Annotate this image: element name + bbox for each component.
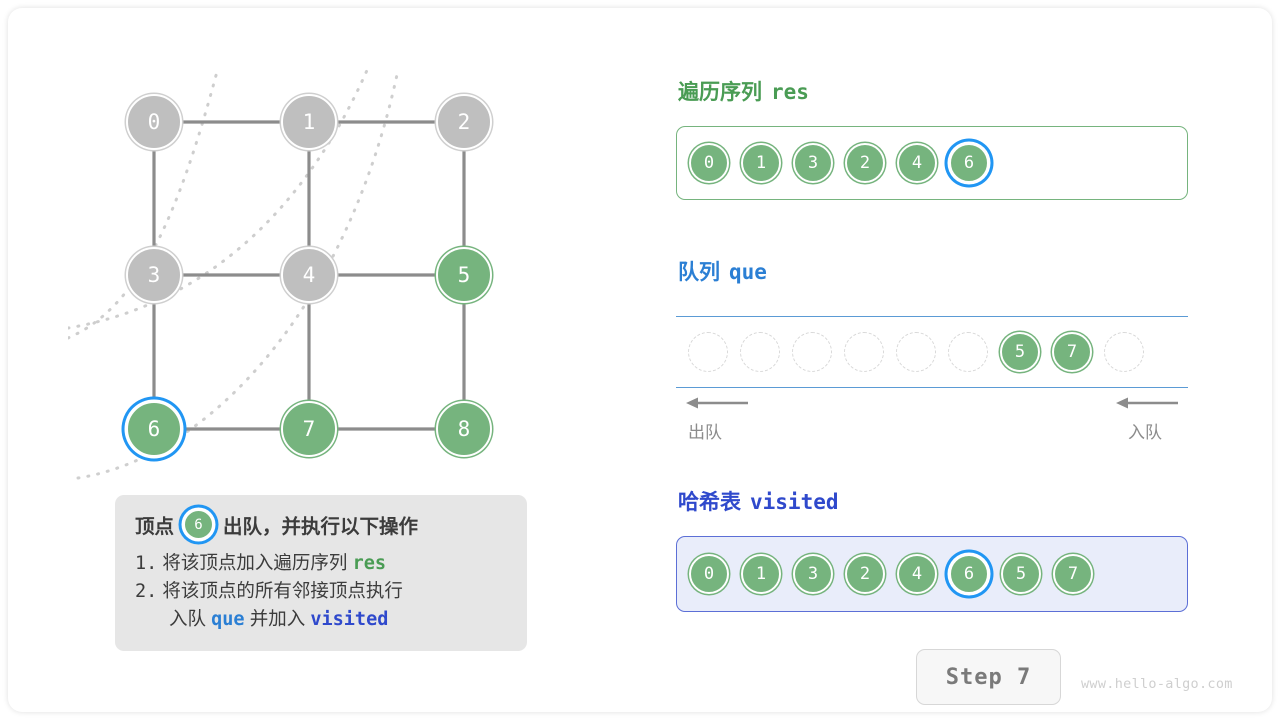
res-item-1: 1 xyxy=(741,143,781,183)
visited-title-code: visited xyxy=(750,490,839,514)
caption-step-2: 2. 将该顶点的所有邻接顶点执行 xyxy=(135,578,507,606)
que-slot-2 xyxy=(792,332,832,372)
que-slot-3 xyxy=(844,332,884,372)
caption-head-prefix: 顶点 xyxy=(135,510,174,539)
graph-node-3[interactable]: 3 xyxy=(126,247,182,303)
res-title-code: res xyxy=(771,80,809,104)
graph-node-4[interactable]: 4 xyxy=(281,247,337,303)
que-title-code: que xyxy=(729,260,767,284)
caption-step-2-before: 入队 xyxy=(169,608,206,629)
visited-item-0: 0 xyxy=(689,554,729,594)
background-dotted-curves xyxy=(68,68,398,478)
watermark: www.hello-algo.com xyxy=(1081,676,1233,692)
visited-item-7: 7 xyxy=(1053,554,1093,594)
caption-box: 顶点 6 出队，并执行以下操作 1. 将该顶点加入遍历序列 res 2. 将该顶… xyxy=(115,495,527,651)
state-panel: 遍历序列res 013246 队列que 57 出队 入队 哈希表visited xyxy=(668,8,1272,712)
visited-title-label: 哈希表 xyxy=(678,491,741,514)
que-section-title: 队列que xyxy=(678,256,767,286)
caption-step-1-code: res xyxy=(353,553,386,574)
caption-step-2-continued: 入队 que 并加入 visited xyxy=(135,606,507,634)
que-slots: 57 xyxy=(688,332,1156,372)
visited-item-3: 2 xyxy=(845,554,885,594)
res-title-label: 遍历序列 xyxy=(678,81,762,104)
graph-node-6[interactable]: 6 xyxy=(126,401,182,457)
visited-item-6: 5 xyxy=(1001,554,1041,594)
caption-step-2-code-visited: visited xyxy=(310,609,388,630)
enqueue-label: 入队 xyxy=(1128,418,1162,443)
res-list: 013246 xyxy=(676,126,1188,200)
caption-step-1-num: 1. xyxy=(135,553,157,574)
visited-item-1: 1 xyxy=(741,554,781,594)
res-item-3: 2 xyxy=(845,143,885,183)
visited-item-2: 3 xyxy=(793,554,833,594)
que-slot-7: 7 xyxy=(1052,332,1092,372)
caption-node-6: 6 xyxy=(183,509,214,540)
res-section-title: 遍历序列res xyxy=(678,76,809,106)
dequeue-label: 出队 xyxy=(688,418,722,443)
que-rail-top xyxy=(676,316,1188,317)
que-track: 57 xyxy=(676,316,1188,388)
visited-item-5: 6 xyxy=(949,554,989,594)
caption-step-1-text: 将该顶点加入遍历序列 xyxy=(162,552,347,573)
que-direction-row: 出队 入队 xyxy=(676,396,1188,444)
diagram-frame: 012345678 顶点 6 出队，并执行以下操作 1. 将该顶点加入遍历序列 … xyxy=(8,8,1272,712)
graph-node-7[interactable]: 7 xyxy=(281,401,337,457)
caption-step-2-text: 将该顶点的所有邻接顶点执行 xyxy=(162,580,403,601)
que-slot-0 xyxy=(688,332,728,372)
caption-head-suffix: 出队，并执行以下操作 xyxy=(223,510,418,539)
graph-node-2[interactable]: 2 xyxy=(436,94,492,150)
que-slot-5 xyxy=(948,332,988,372)
graph-node-5[interactable]: 5 xyxy=(436,247,492,303)
que-rail-bottom xyxy=(676,387,1188,388)
caption-step-2-num: 2. xyxy=(135,581,157,602)
que-slot-1 xyxy=(740,332,780,372)
caption-step-2-mid: 并加入 xyxy=(250,608,306,629)
que-slot-4 xyxy=(896,332,936,372)
res-item-0: 0 xyxy=(689,143,729,183)
que-slot-6: 5 xyxy=(1000,332,1040,372)
graph-node-1[interactable]: 1 xyxy=(281,94,337,150)
step-badge: Step 7 xyxy=(916,649,1061,705)
res-item-5: 6 xyxy=(949,143,989,183)
visited-list: 01324657 xyxy=(676,536,1188,612)
graph-node-8[interactable]: 8 xyxy=(436,401,492,457)
caption-step-2-code-que: que xyxy=(211,609,244,630)
visited-item-4: 4 xyxy=(897,554,937,594)
res-item-2: 3 xyxy=(793,143,833,183)
dequeue-arrow-icon xyxy=(686,396,748,410)
que-slot-8 xyxy=(1104,332,1144,372)
graph-node-0[interactable]: 0 xyxy=(126,94,182,150)
caption-heading: 顶点 6 出队，并执行以下操作 xyxy=(135,509,507,540)
res-item-4: 4 xyxy=(897,143,937,183)
caption-step-1: 1. 将该顶点加入遍历序列 res xyxy=(135,550,507,578)
que-title-label: 队列 xyxy=(678,261,720,284)
graph-panel: 012345678 顶点 6 出队，并执行以下操作 1. 将该顶点加入遍历序列 … xyxy=(8,8,608,712)
visited-section-title: 哈希表visited xyxy=(678,486,839,516)
enqueue-arrow-icon xyxy=(1116,396,1178,410)
